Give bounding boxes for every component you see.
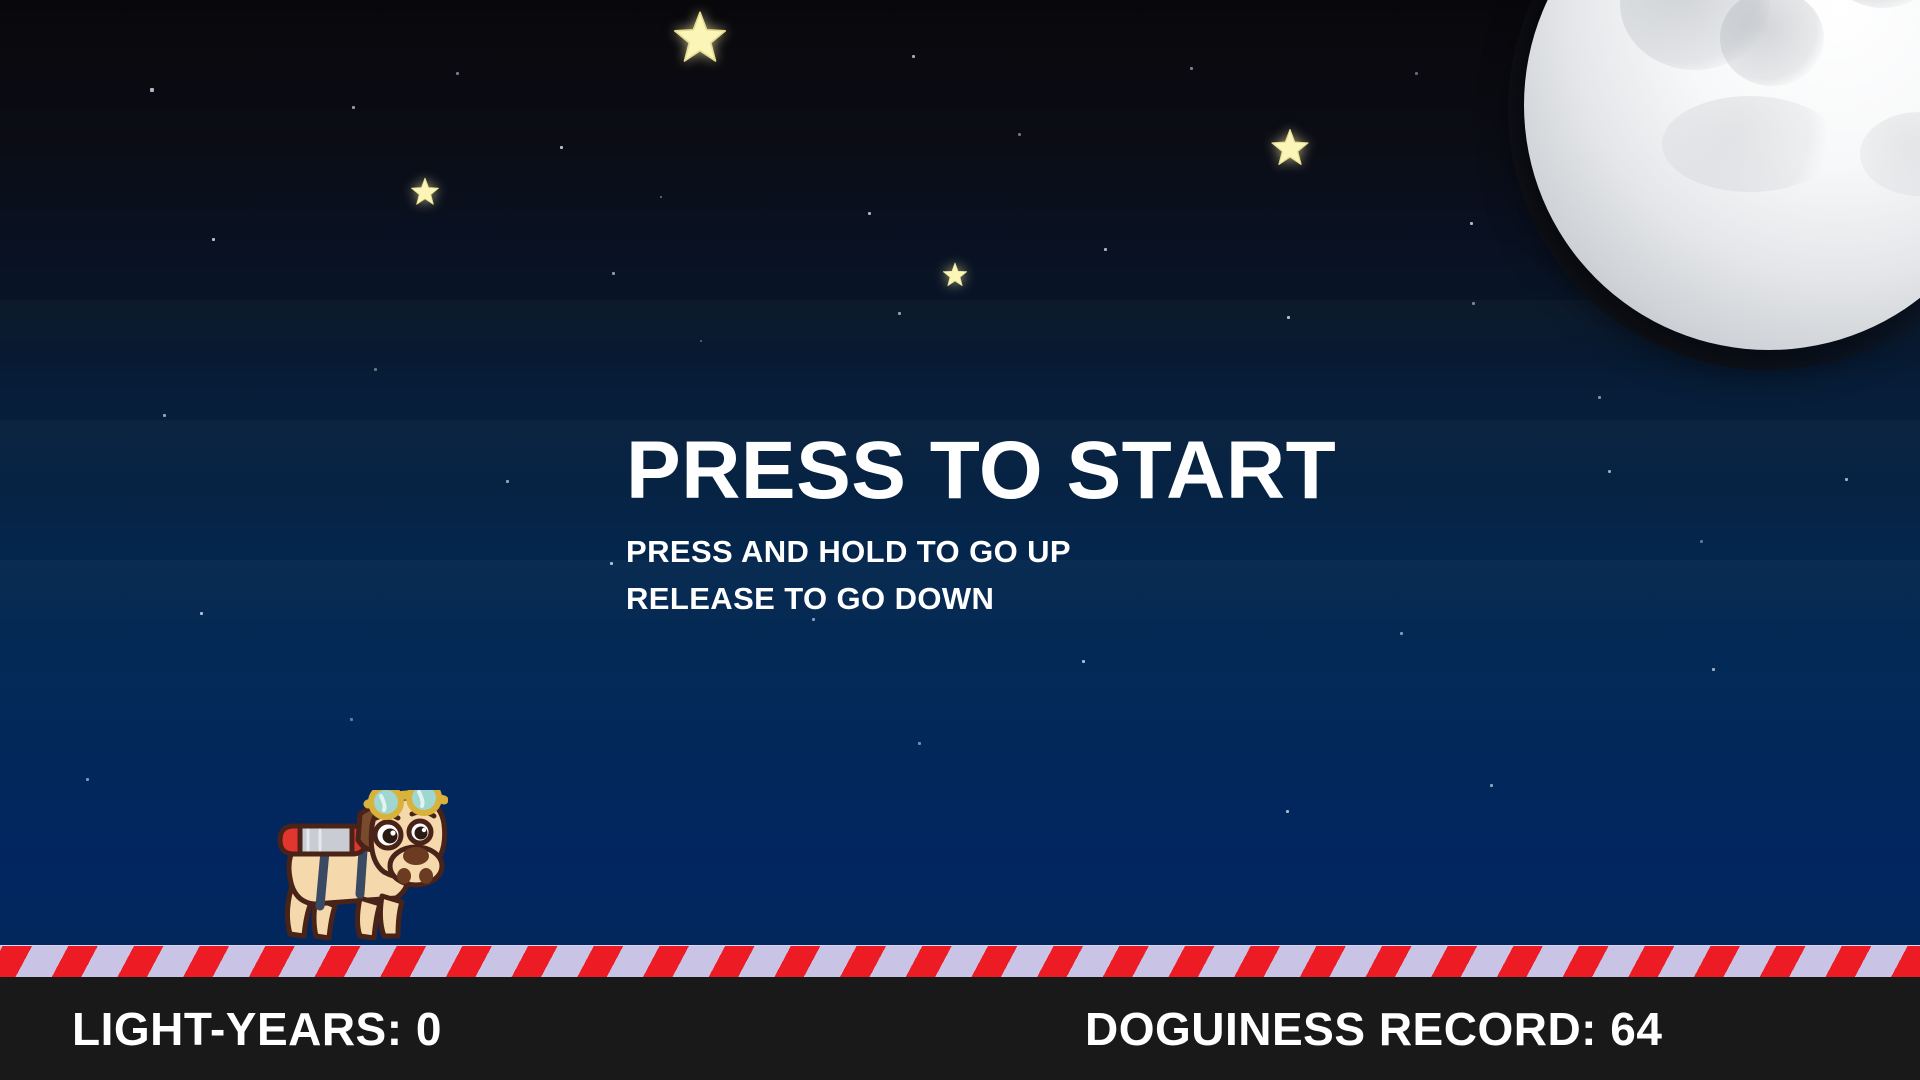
star-dot — [506, 480, 509, 483]
instruction-line-1: PRESS AND HOLD TO GO UP — [626, 534, 1071, 569]
star-dot — [1598, 396, 1601, 399]
star-dot — [1104, 248, 1107, 251]
doguiness-record: DOGUINESS RECORD: 64 — [1085, 1003, 1662, 1055]
star-dot — [1415, 72, 1418, 75]
star-dot — [1082, 660, 1085, 663]
star-dot — [868, 212, 871, 215]
moon-crater — [1662, 96, 1838, 192]
star-dot — [1287, 316, 1290, 319]
star-dot — [1472, 302, 1475, 305]
star-dot — [86, 778, 89, 781]
game-canvas[interactable]: PRESS TO START PRESS AND HOLD TO GO UP R… — [0, 0, 1920, 1080]
moon-crater — [1860, 112, 1920, 196]
star-dot — [1400, 632, 1403, 635]
star-dot — [350, 718, 353, 721]
star-icon — [942, 262, 968, 288]
star-dot — [1018, 133, 1021, 136]
star-dot — [456, 72, 459, 75]
star-dot — [1490, 784, 1493, 787]
star-dot — [352, 106, 355, 109]
star-dot — [918, 742, 921, 745]
page-title: PRESS TO START — [626, 430, 1526, 512]
star-dot — [560, 146, 563, 149]
star-dot — [1470, 222, 1473, 225]
player-pug-sprite[interactable] — [268, 790, 448, 948]
star-icon — [672, 10, 728, 66]
star-dot — [912, 55, 915, 58]
star-dot — [1286, 810, 1289, 813]
star-dot — [374, 368, 377, 371]
ground-stripes — [0, 945, 1920, 978]
moon-icon — [1508, 0, 1920, 370]
star-dot — [1190, 67, 1193, 70]
star-dot — [1712, 668, 1715, 671]
star-dot — [212, 238, 215, 241]
star-dot — [1608, 470, 1611, 473]
star-dot — [163, 414, 166, 417]
star-dot — [200, 612, 203, 615]
star-dot — [150, 88, 154, 92]
star-dot — [1700, 540, 1703, 543]
moon-disc — [1524, 0, 1920, 350]
moon-crater — [1720, 0, 1824, 86]
star-dot — [898, 312, 901, 315]
instruction-line-2: RELEASE TO GO DOWN — [626, 581, 994, 616]
moon-crater — [1824, 0, 1920, 8]
start-prompt[interactable]: PRESS TO START PRESS AND HOLD TO GO UP R… — [626, 430, 1526, 622]
star-icon — [1270, 128, 1310, 168]
star-dot — [1845, 478, 1848, 481]
star-dot — [700, 340, 702, 342]
instructions-text: PRESS AND HOLD TO GO UP RELEASE TO GO DO… — [626, 512, 1526, 622]
star-icon — [410, 177, 440, 207]
light-years-score: LIGHT-YEARS: 0 — [72, 1003, 442, 1055]
star-dot — [612, 272, 615, 275]
star-dot — [610, 562, 613, 565]
hud-bar: LIGHT-YEARS: 0 DOGUINESS RECORD: 64 — [0, 977, 1920, 1080]
star-dot — [660, 196, 662, 198]
